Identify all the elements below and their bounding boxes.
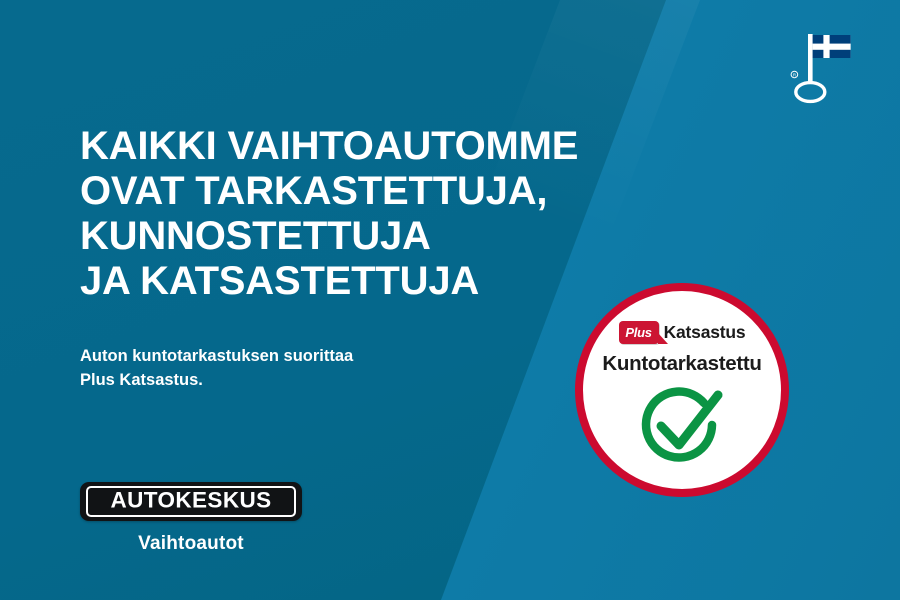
badge-status-text: Kuntotarkastettu (602, 352, 761, 376)
autokeskus-logo-inner-frame: AUTOKESKUS (86, 486, 296, 517)
green-check-circle-icon (634, 385, 730, 478)
plus-logo-tail (658, 333, 668, 344)
headline-line-3: KUNNOSTETTUJA (80, 214, 700, 259)
subcopy: Auton kuntotarkastuksen suorittaa Plus K… (80, 344, 510, 392)
certification-badge: Plus Katsastus Kuntotarkastettu (575, 283, 789, 497)
badge-brand-name: Katsastus (664, 322, 746, 343)
headline-line-1: KAIKKI VAIHTOAUTOMME (80, 124, 700, 169)
autokeskus-logo-subtitle: Vaihtoautot (80, 533, 302, 555)
autokeskus-logo-text: AUTOKESKUS (110, 490, 271, 513)
headline-line-2: OVAT TARKASTETTUJA, (80, 169, 700, 214)
headline: KAIKKI VAIHTOAUTOMME OVAT TARKASTETTUJA,… (80, 124, 700, 304)
autokeskus-logo-plate: AUTOKESKUS (80, 482, 302, 521)
svg-text:R: R (793, 73, 796, 78)
badge-brand-row: Plus Katsastus (619, 319, 746, 345)
plus-logo-text: Plus (625, 326, 651, 339)
marketing-banner: R KAIKKI VAIHTOAUTOMME OVAT TARKASTETTUJ… (0, 0, 900, 600)
headline-line-4: JA KATSASTETTUJA (80, 259, 700, 304)
autokeskus-logo[interactable]: AUTOKESKUS Vaihtoautot (80, 482, 302, 555)
plus-logo-mark: Plus (619, 321, 659, 344)
avainlippu-key-flag-icon: R (785, 26, 857, 106)
subcopy-line-1: Auton kuntotarkastuksen suorittaa (80, 344, 510, 368)
subcopy-line-2: Plus Katsastus. (80, 368, 510, 392)
